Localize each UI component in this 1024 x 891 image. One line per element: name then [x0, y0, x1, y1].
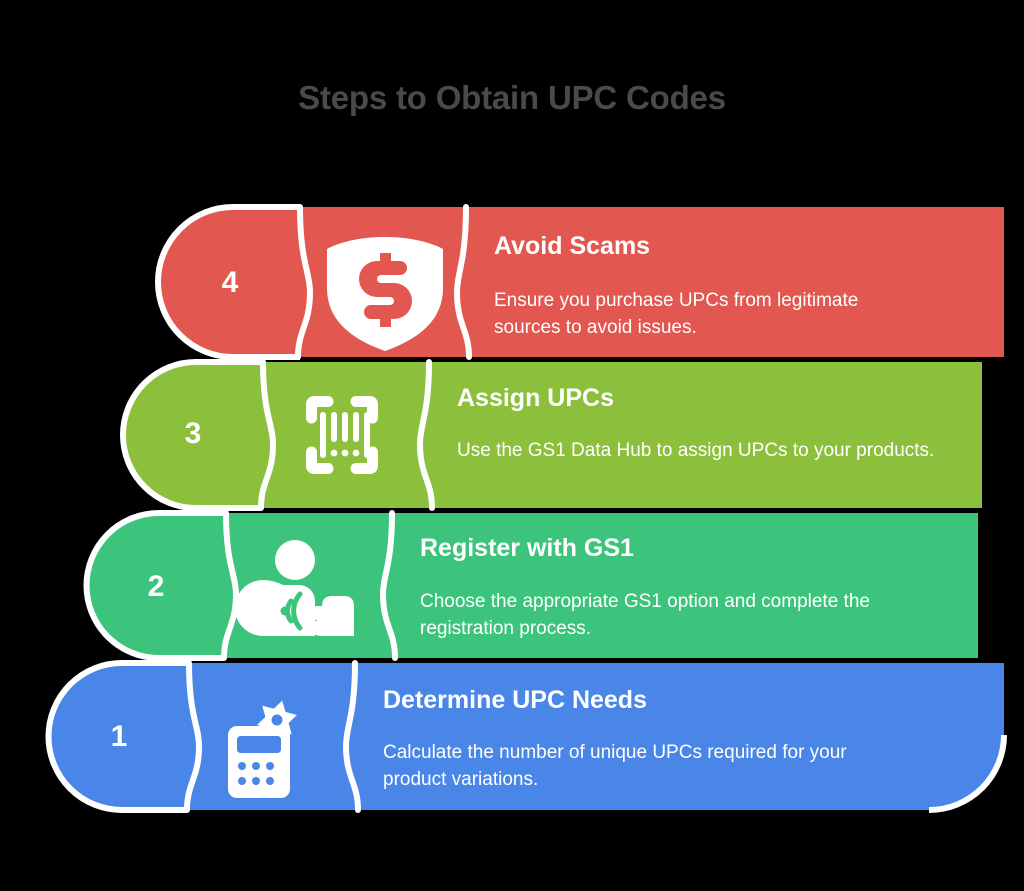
step-1-heading: Determine UPC Needs — [383, 686, 647, 715]
step-4-description: Ensure you purchase UPCs from legitimate… — [494, 288, 894, 342]
step-3-number: 3 — [163, 417, 223, 451]
step-1-number: 1 — [89, 720, 149, 754]
step-3-description: Use the GS1 Data Hub to assign UPCs to y… — [457, 438, 949, 465]
step-1-description: Calculate the number of unique UPCs requ… — [383, 740, 913, 794]
infographic-canvas: Steps to Obtain UPC Codes — [0, 0, 1024, 891]
step-2-heading: Register with GS1 — [420, 534, 634, 563]
shield-dollar-icon — [320, 230, 450, 358]
step-4-number: 4 — [200, 266, 260, 300]
step-3-heading: Assign UPCs — [457, 384, 614, 413]
step-2-description: Choose the appropriate GS1 option and co… — [420, 589, 948, 643]
step-4-heading: Avoid Scams — [494, 232, 650, 261]
step-2-number: 2 — [126, 570, 186, 604]
steps-container: 4 Avoid Scams Ensure you purchase UPCs f… — [0, 0, 1024, 891]
